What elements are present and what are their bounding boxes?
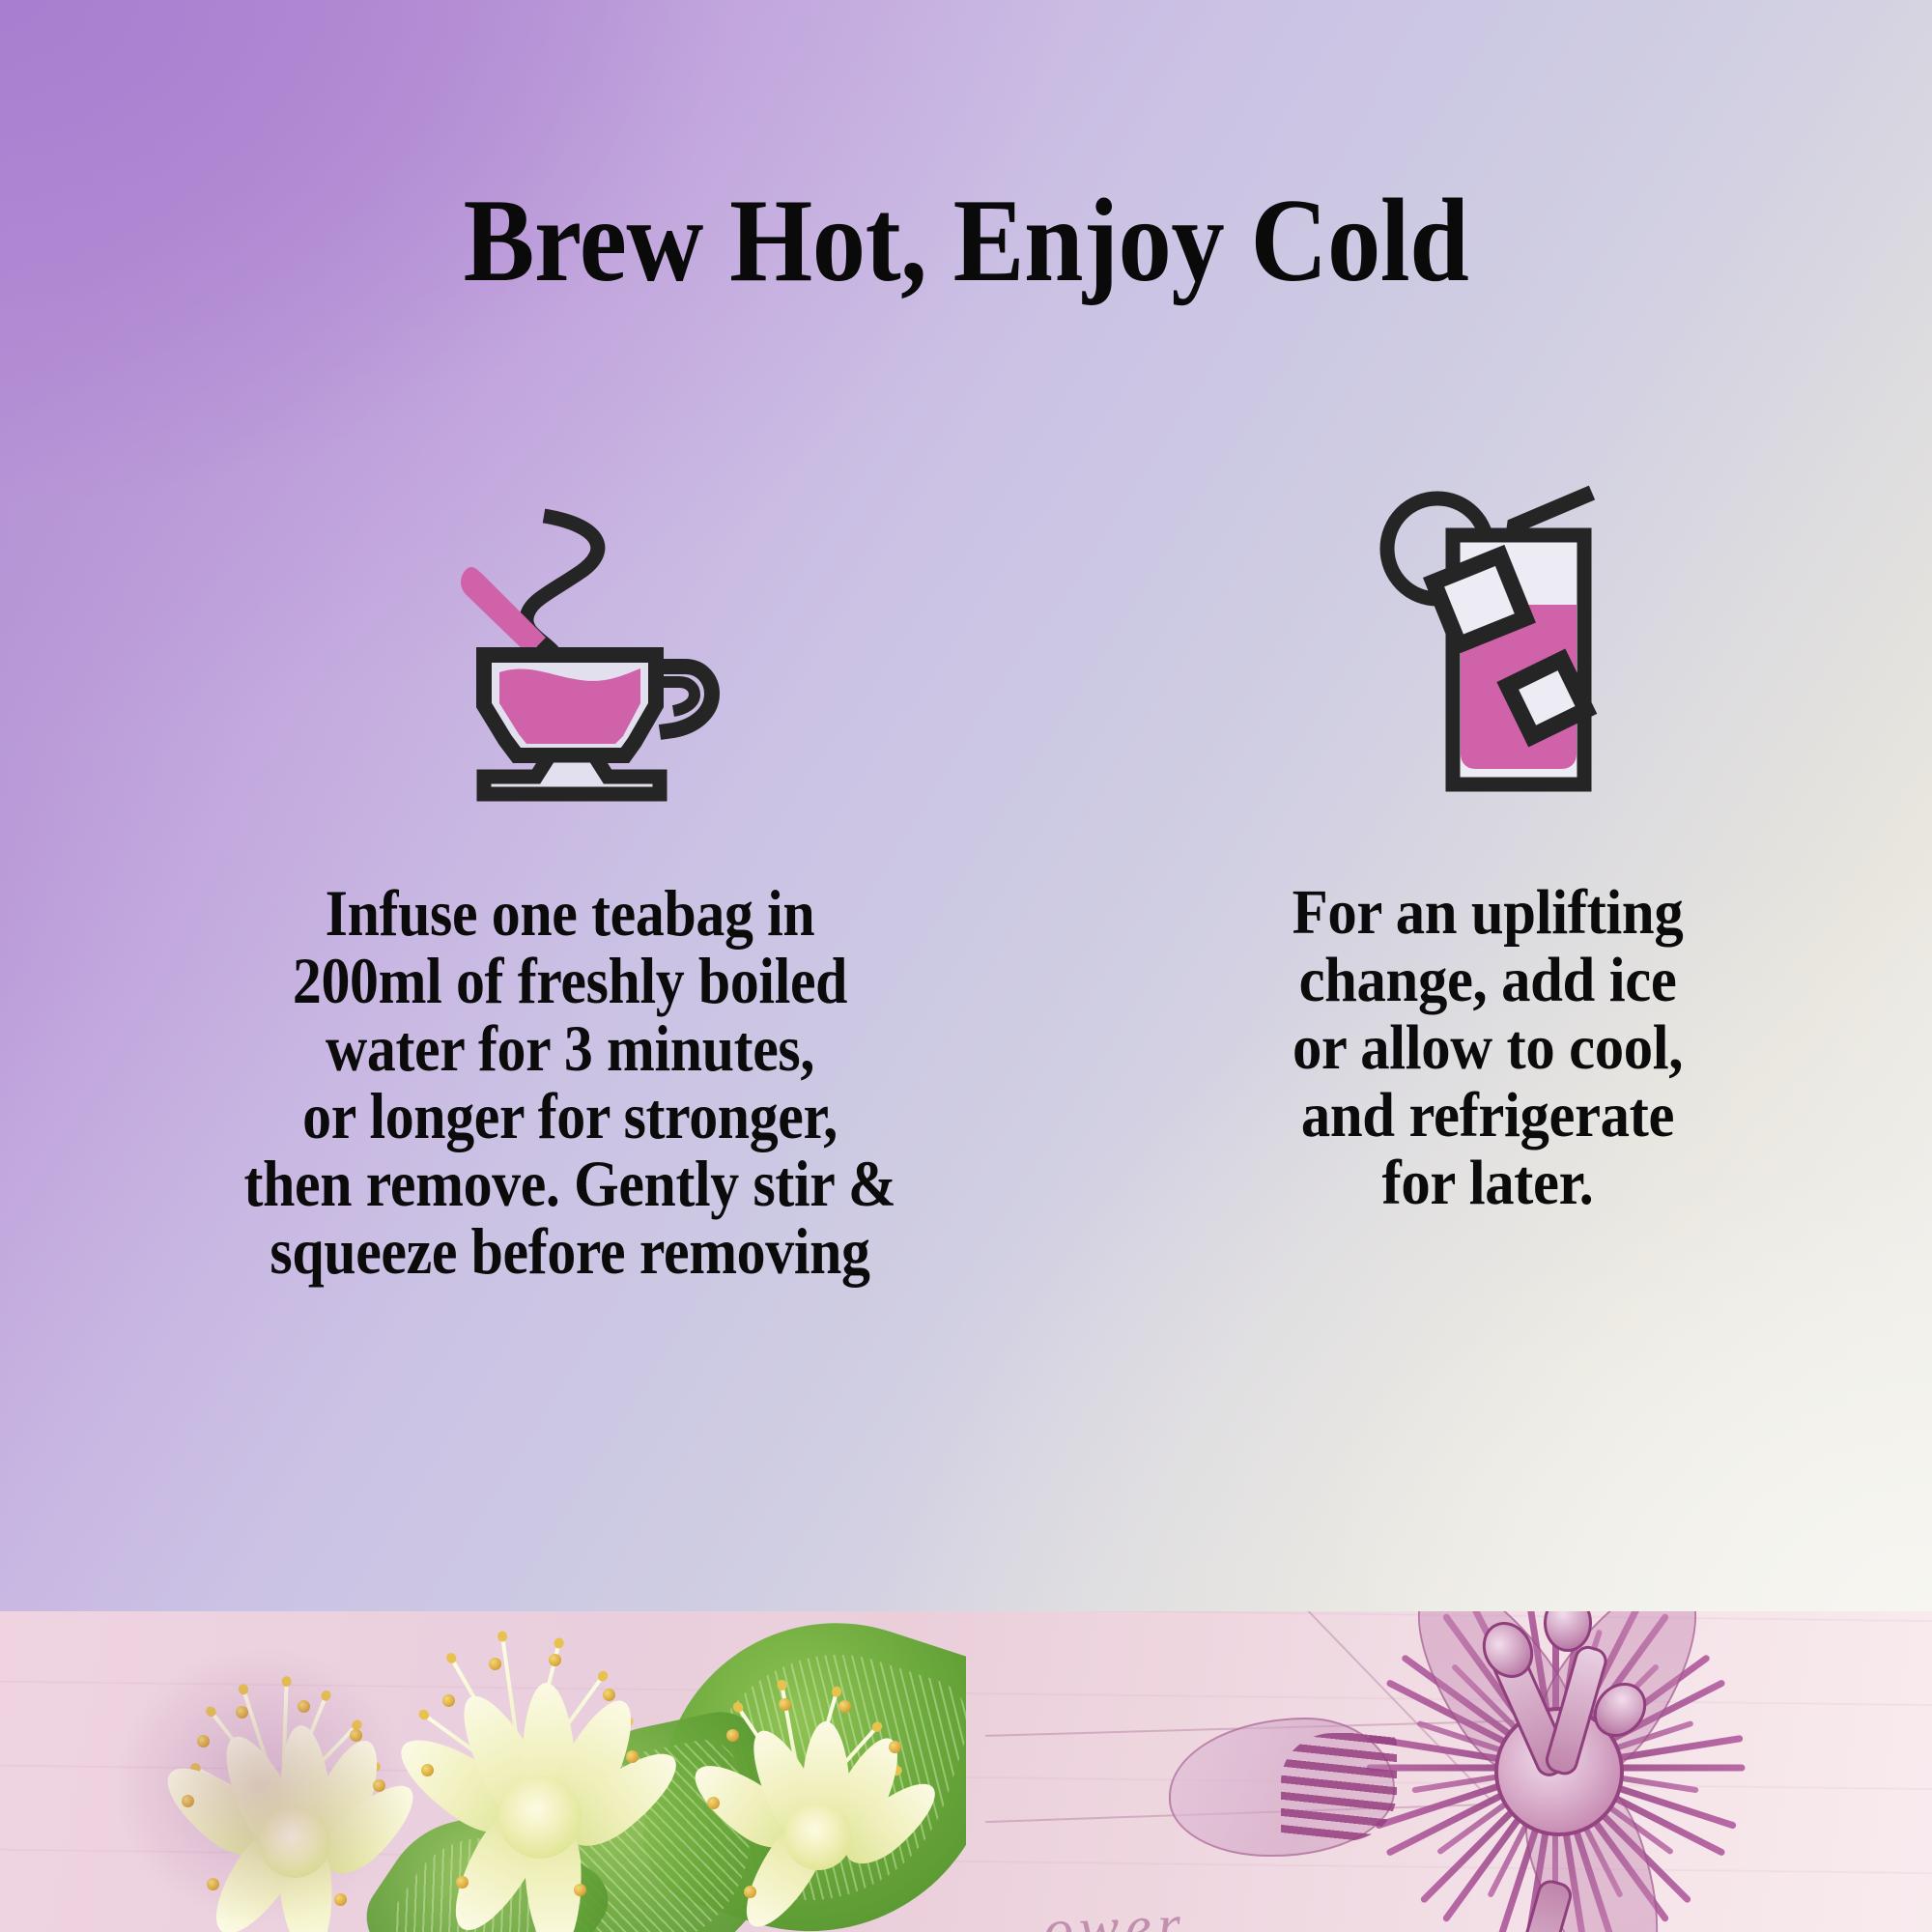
page-title: Brew Hot, Enjoy Cold bbox=[97, 178, 1835, 302]
iced-drink-glass-icon bbox=[1082, 454, 1903, 802]
instruction-line: water for 3 minutes, bbox=[120, 1014, 1021, 1082]
instruction-line: For an uplifting bbox=[1115, 879, 1861, 947]
passionflower-engraving: ower bbox=[985, 1611, 1932, 1932]
instruction-line: Infuse one teabag in bbox=[120, 879, 1021, 947]
instruction-line: or longer for stronger, bbox=[120, 1082, 1021, 1150]
instruction-line: 200ml of freshly boiled bbox=[120, 947, 1021, 1014]
teacup-with-steam-icon bbox=[58, 454, 1107, 802]
instruction-line: then remove. Gently stir & bbox=[120, 1150, 1021, 1217]
instruction-line: or allow to cool, bbox=[1115, 1014, 1861, 1082]
photo-shadow bbox=[106, 1640, 415, 1930]
instruction-line: for later. bbox=[1115, 1150, 1861, 1217]
instruction-line: squeeze before removing bbox=[120, 1217, 1021, 1285]
column-hot: Infuse one teabag in 200ml of freshly bo… bbox=[58, 454, 1082, 1285]
bottom-photo-strip: ower bbox=[0, 1611, 1932, 1932]
passionflower-drawing bbox=[1304, 1611, 1806, 1932]
poster: Brew Hot, Enjoy Cold bbox=[0, 0, 1932, 1932]
blossom-cluster bbox=[367, 1640, 696, 1932]
instruction-line: change, add ice bbox=[1115, 947, 1861, 1014]
flower-side-petal bbox=[1169, 1718, 1395, 1857]
blossom-cluster bbox=[667, 1683, 956, 1932]
handwritten-script: ower bbox=[1042, 1891, 1188, 1932]
instruction-columns: Infuse one teabag in 200ml of freshly bo… bbox=[0, 454, 1932, 1594]
instructions-cold: For an uplifting change, add ice or allo… bbox=[1082, 879, 1893, 1217]
column-cold: For an uplifting change, add ice or allo… bbox=[1082, 454, 1893, 1217]
instructions-hot: Infuse one teabag in 200ml of freshly bo… bbox=[58, 879, 1082, 1285]
linden-blossom-photo bbox=[0, 1611, 966, 1932]
instruction-line: and refrigerate bbox=[1115, 1082, 1861, 1150]
